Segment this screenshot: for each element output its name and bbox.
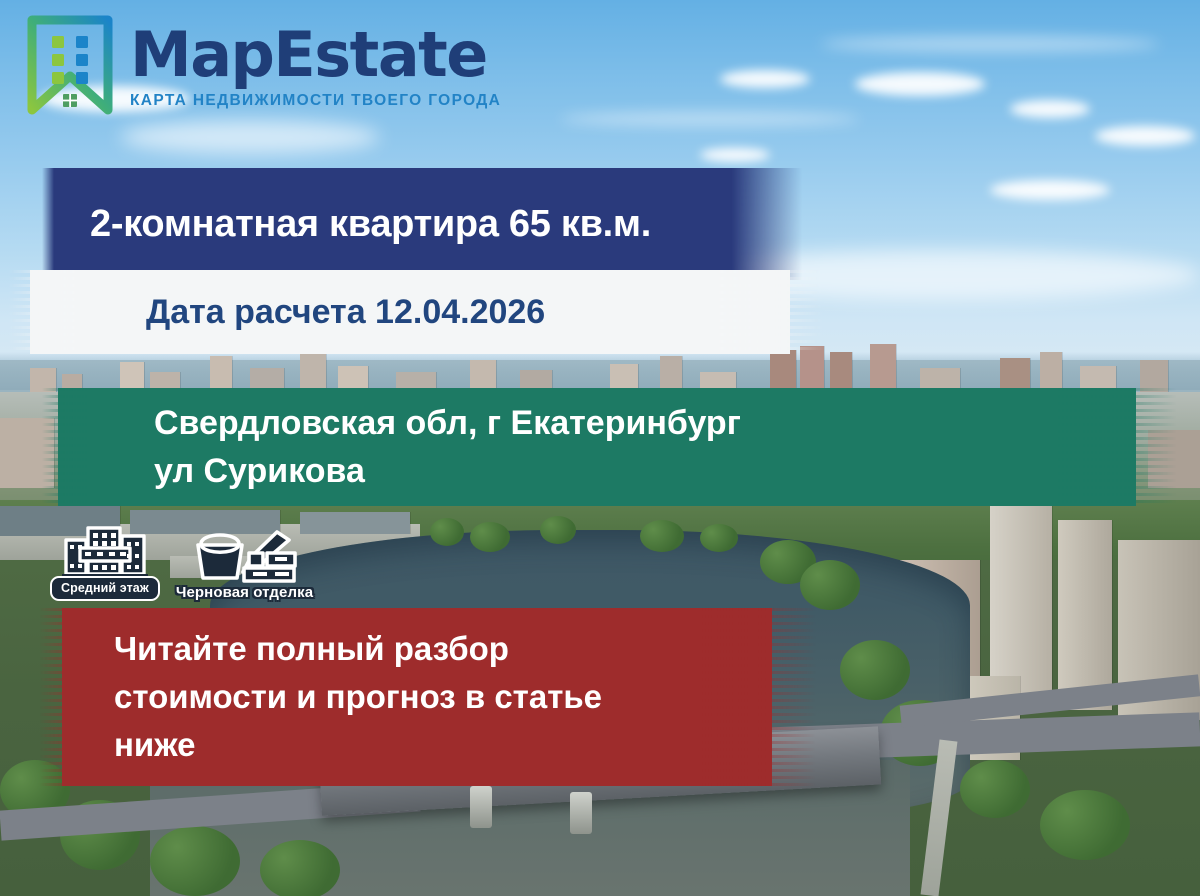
badge-finish[interactable]: Черновая отделка bbox=[176, 528, 313, 601]
bookmark-building-icon bbox=[24, 14, 116, 118]
tree bbox=[700, 524, 738, 552]
address-inner: Свердловская обл, г Екатеринбург ул Сури… bbox=[154, 399, 1136, 496]
property-title-inner: 2-комнатная квартира 65 кв.м. bbox=[90, 203, 802, 246]
tree bbox=[150, 826, 240, 896]
badge-finish-label: Черновая отделка bbox=[176, 582, 313, 601]
cta-line-3: ниже bbox=[114, 721, 772, 769]
cloud bbox=[560, 112, 860, 126]
building bbox=[300, 512, 410, 534]
cloud bbox=[120, 120, 380, 154]
feature-badges: Средний этаж bbox=[50, 522, 313, 601]
address-banner: Свердловская обл, г Екатеринбург ул Сури… bbox=[58, 388, 1136, 506]
tree bbox=[260, 840, 340, 896]
cloud bbox=[1095, 126, 1195, 146]
cloud bbox=[720, 70, 810, 88]
brand-tagline: КАРТА НЕДВИЖИМОСТИ ТВОЕГО ГОРОДА bbox=[130, 92, 501, 110]
building bbox=[1058, 520, 1112, 710]
badge-floor-label: Средний этаж bbox=[50, 576, 160, 601]
brand-logo[interactable]: MapEstate КАРТА НЕДВИЖИМОСТИ ТВОЕГО ГОРО… bbox=[24, 14, 501, 118]
apartment-building-icon bbox=[62, 522, 148, 580]
cloud bbox=[820, 36, 1160, 52]
badge-floor[interactable]: Средний этаж bbox=[50, 522, 160, 601]
calculation-date-banner: Дата расчета 12.04.2026 bbox=[30, 270, 790, 354]
tree bbox=[800, 560, 860, 610]
tree bbox=[470, 522, 510, 552]
cloud bbox=[855, 72, 985, 96]
cloud bbox=[990, 180, 1110, 200]
calculation-date-inner: Дата расчета 12.04.2026 bbox=[146, 293, 790, 332]
paint-bucket-trowel-icon bbox=[189, 528, 301, 586]
bridge-pier bbox=[470, 786, 492, 828]
cloud bbox=[700, 148, 770, 162]
address-line-region-city: Свердловская обл, г Екатеринбург bbox=[154, 399, 1136, 447]
tree bbox=[640, 520, 684, 552]
tree bbox=[540, 516, 576, 544]
bridge-pier bbox=[570, 792, 592, 834]
property-title-banner: 2-комнатная квартира 65 кв.м. bbox=[42, 168, 802, 280]
property-title-text: 2-комнатная квартира 65 кв.м. bbox=[90, 203, 802, 246]
cta-line-1: Читайте полный разбор bbox=[114, 625, 772, 673]
calculation-date-text: Дата расчета 12.04.2026 bbox=[146, 293, 790, 332]
brand-name-part1: Map bbox=[130, 18, 273, 91]
cta-inner: Читайте полный разбор стоимости и прогно… bbox=[114, 625, 772, 769]
tree bbox=[960, 760, 1030, 818]
brand-wordmark: MapEstate bbox=[130, 26, 501, 85]
cta-banner[interactable]: Читайте полный разбор стоимости и прогно… bbox=[62, 608, 772, 786]
tree bbox=[1040, 790, 1130, 860]
address-line-street: ул Сурикова bbox=[154, 447, 1136, 495]
cta-line-2: стоимости и прогноз в статье bbox=[114, 673, 772, 721]
poster-canvas: MapEstate КАРТА НЕДВИЖИМОСТИ ТВОЕГО ГОРО… bbox=[0, 0, 1200, 896]
tree bbox=[430, 518, 464, 546]
tree bbox=[840, 640, 910, 700]
brand-name-part2: Estate bbox=[273, 18, 486, 91]
cloud bbox=[1010, 100, 1090, 118]
